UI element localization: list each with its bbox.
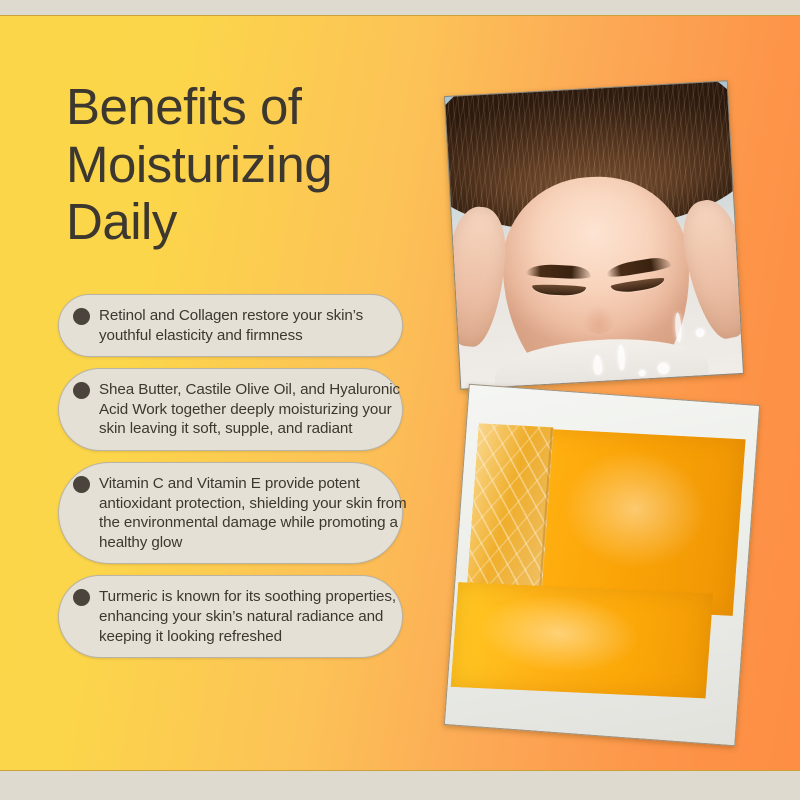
frame-bottom-rule — [0, 770, 800, 771]
list-item: Shea Butter, Castile Olive Oil, and Hyal… — [58, 368, 403, 451]
list-item: Vitamin C and Vitamin E provide potent a… — [58, 462, 403, 564]
benefits-list: Retinol and Collagen restore your skin’s… — [58, 294, 403, 669]
bullet-dot-icon — [73, 589, 90, 606]
benefit-text: Shea Butter, Castile Olive Oil, and Hyal… — [99, 380, 419, 439]
photo-turmeric-soap — [444, 384, 760, 746]
bullet-dot-icon — [73, 308, 90, 325]
bullet-dot-icon — [73, 476, 90, 493]
benefit-text: Turmeric is known for its soothing prope… — [99, 587, 419, 646]
benefit-text: Vitamin C and Vitamin E provide potent a… — [99, 474, 419, 552]
photo-face-washing — [444, 80, 744, 389]
list-item: Turmeric is known for its soothing prope… — [58, 575, 403, 658]
benefit-text: Retinol and Collagen restore your skin’s… — [99, 306, 419, 345]
poster-canvas: Benefits of Moisturizing Daily — [0, 0, 800, 800]
photo-soap-bar-front — [451, 582, 714, 699]
bullet-dot-icon — [73, 382, 90, 399]
frame-top-rule — [0, 15, 800, 16]
poster-inner-canvas: Benefits of Moisturizing Daily — [0, 16, 800, 770]
page-title: Benefits of Moisturizing Daily — [66, 78, 466, 251]
list-item: Retinol and Collagen restore your skin’s… — [58, 294, 403, 357]
